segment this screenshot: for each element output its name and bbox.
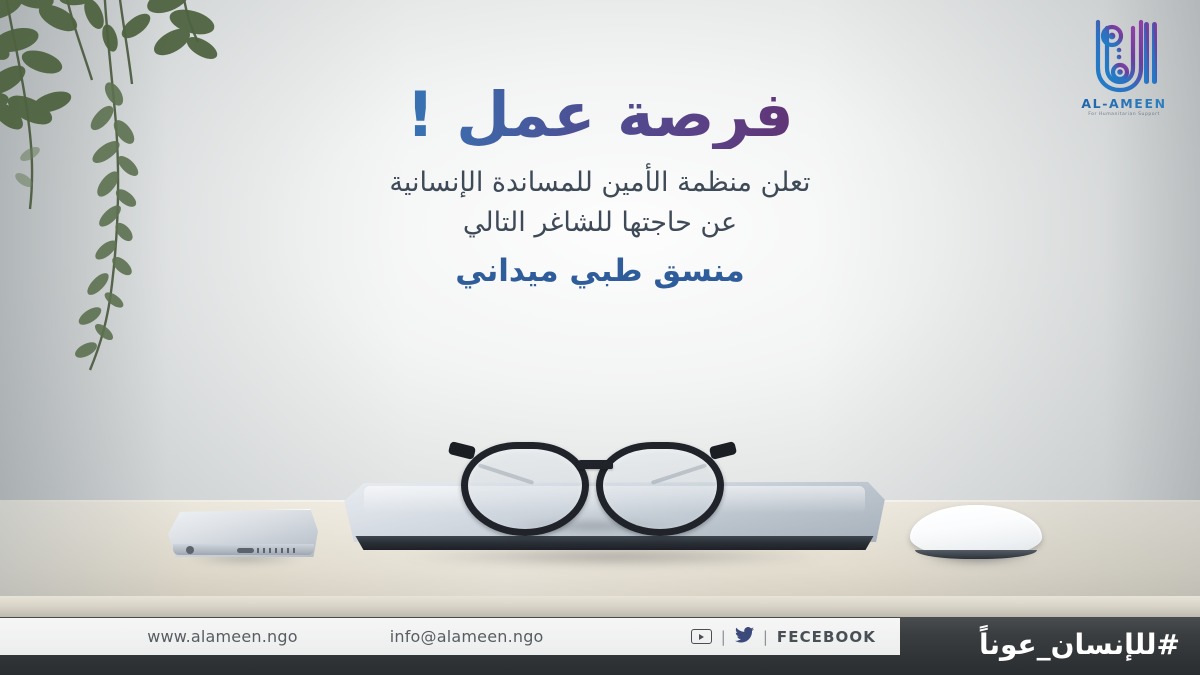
computer-mouse: [910, 505, 1042, 557]
hanging-vine-plant: [0, 0, 226, 384]
footer-email[interactable]: info@alameen.ngo: [390, 627, 544, 646]
announcement-text-block: فرصة عمل ! تعلن منظمة الأمين للمساندة ال…: [300, 82, 900, 289]
social-separator-1: |: [721, 628, 726, 646]
organization-logo: AL-AMEEN For Humanitarian Support: [1070, 16, 1178, 117]
announcement-line-1: تعلن منظمة الأمين للمساندة الإنسانية: [300, 163, 900, 203]
logo-name: AL-AMEEN: [1070, 96, 1178, 111]
social-separator-2: |: [763, 628, 768, 646]
logo-tagline: For Humanitarian Support: [1070, 112, 1178, 117]
job-vacancy-poster: فرصة عمل ! تعلن منظمة الأمين للمساندة ال…: [0, 0, 1200, 675]
youtube-icon[interactable]: [691, 629, 712, 644]
glasses-bridge: [577, 460, 613, 469]
phone-headphone-jack: [186, 546, 194, 554]
al-ameen-monogram-icon: [1088, 16, 1160, 94]
phone-speaker-grille: [257, 548, 297, 553]
page-title: فرصة عمل !: [300, 82, 900, 149]
announcement-line-2: عن حاجتها للشاغر التالي: [300, 203, 900, 243]
smartphone: [168, 509, 318, 557]
eyeglasses: [455, 438, 730, 530]
campaign-hashtag: #للإنسان_عوناً: [979, 628, 1180, 661]
laptop-base: [347, 536, 881, 550]
vacancy-role-title: منسق طبي ميداني: [300, 253, 900, 289]
footer-contact-strip: www.alameen.ngo info@alameen.ngo | | FEC…: [0, 618, 900, 655]
phone-charging-port: [237, 548, 254, 553]
facebook-label[interactable]: FECEBOOK: [777, 628, 876, 646]
footer-website[interactable]: www.alameen.ngo: [147, 627, 298, 646]
twitter-icon[interactable]: [735, 627, 754, 647]
social-links: | | FECEBOOK: [691, 627, 876, 647]
